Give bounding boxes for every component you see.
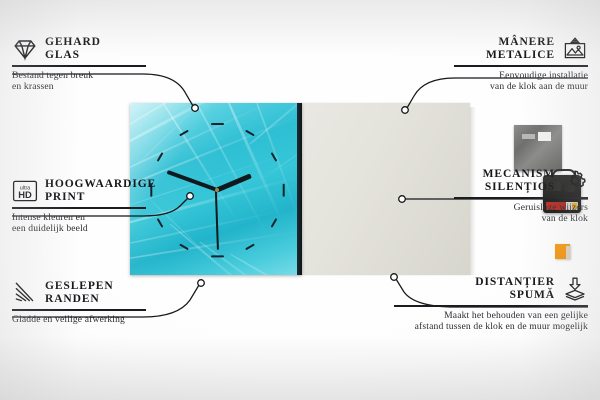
diamond-icon (12, 36, 38, 62)
feature-hoogwaardige-print: ultra HD HOOGWAARDIGEPRINT Intense kleur… (12, 178, 146, 235)
feature-title: HOOGWAARDIGEPRINT (45, 178, 156, 204)
feature-body: Gladde en veilige afwerking (12, 314, 146, 326)
feature-body: Intense kleuren eneen duidelijk beeld (12, 212, 146, 235)
feature-gehard-glas: GEHARDGLAS Bestand tegen breuken krassen (12, 36, 146, 93)
feature-mecanism-silentios: MECANISMSILENȚIOS Geruisloze wijzersvan … (454, 168, 588, 225)
feature-body: Geruisloze wijzersvan de klok (454, 202, 588, 225)
divider (12, 207, 146, 209)
hands-center-cap (215, 188, 219, 192)
connector-dot-randen (198, 280, 205, 287)
divider (12, 309, 146, 311)
gear-icon (562, 168, 588, 194)
divider (12, 65, 146, 67)
divider (454, 65, 588, 67)
bevelled-edge-icon (12, 280, 38, 306)
feature-title: DISTANȚIERSPUMĂ (475, 276, 555, 302)
feature-body: Eenvoudige installatievan de klok aan de… (454, 70, 588, 93)
clock-tick (282, 183, 284, 196)
divider (454, 197, 588, 199)
ultra-hd-icon: ultra HD (12, 178, 38, 204)
foam-spacer-part (555, 244, 570, 259)
feature-manere-metalice: MÂNEREMETALICE Eenvoudige installatievan… (454, 36, 588, 93)
product-photo (130, 103, 470, 275)
wall-hanging-picture-icon (562, 36, 588, 62)
feature-title: GESLEPENRANDEN (45, 280, 114, 306)
clock-back-panel (298, 103, 470, 275)
svg-text:HD: HD (18, 189, 32, 200)
hanger-slot-right (538, 132, 551, 141)
feature-body: Bestand tegen breuken krassen (12, 70, 146, 93)
glass-right-edge (297, 103, 302, 275)
feature-title: GEHARDGLAS (45, 36, 101, 62)
hanger-slot-left (522, 134, 535, 139)
feature-geslepen-randen: GESLEPENRANDEN Gladde en veilige afwerki… (12, 280, 146, 325)
feature-body: Maakt het behouden van een gelijkeafstan… (394, 310, 588, 333)
clock-tick (211, 255, 224, 257)
foam-spacer-icon (562, 276, 588, 302)
feature-title: MECANISMSILENȚIOS (483, 168, 555, 194)
feature-distantier-spuma: DISTANȚIERSPUMĂ Maakt het behouden van e… (394, 276, 588, 333)
divider (394, 305, 588, 307)
metal-hanger-part (514, 125, 562, 171)
infographic-canvas: GEHARDGLAS Bestand tegen breuken krassen… (0, 0, 600, 400)
feature-title: MÂNEREMETALICE (486, 36, 555, 62)
